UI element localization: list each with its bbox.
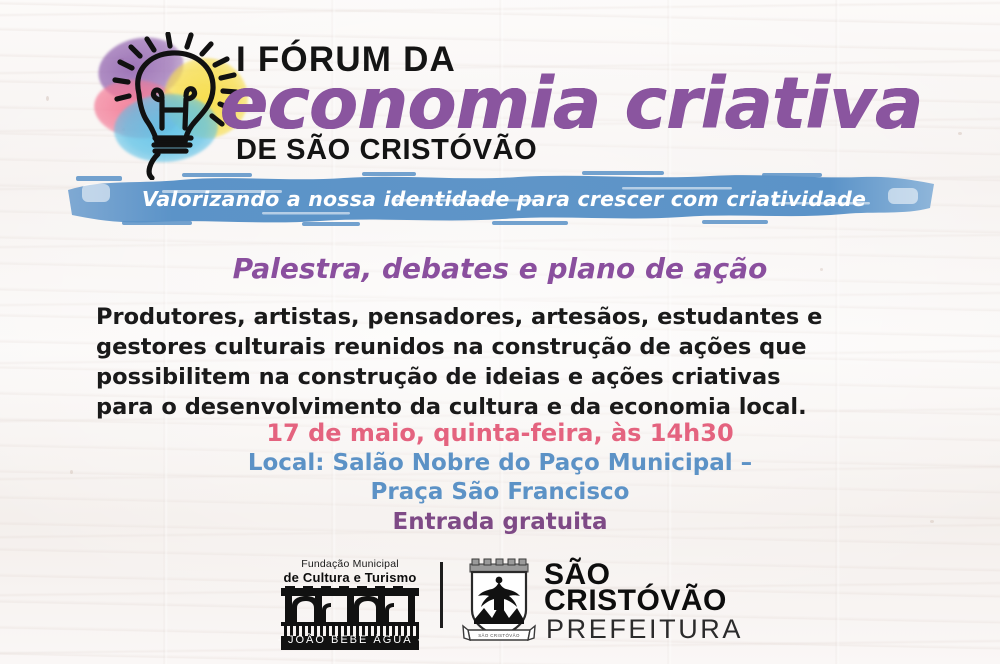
foundation-caption: · JOÃO BEBE ÁGUA · xyxy=(275,634,425,646)
foundation-line-2: de Cultura e Turismo xyxy=(275,570,425,585)
svg-text:SÃO CRISTÓVÃO: SÃO CRISTÓVÃO xyxy=(478,633,520,638)
title-line-city: DE SÃO CRISTÓVÃO xyxy=(236,134,537,167)
title-line-main: economia criativa xyxy=(220,68,923,139)
description-line-1: Produtores, artistas, pensadores, artesã… xyxy=(96,304,822,330)
event-admission: Entrada gratuita xyxy=(0,508,1000,537)
event-details: 17 de maio, quinta-feira, às 14h30 Local… xyxy=(0,418,1000,537)
tagline-text: Valorizando a nossa identidade para cres… xyxy=(62,168,942,230)
description-paragraph: Produtores, artistas, pensadores, artesã… xyxy=(96,303,912,423)
foundation-line-1: Fundação Municipal xyxy=(275,558,425,570)
city-hall-line-3: PREFEITURA xyxy=(546,616,743,643)
subtitle-text: Palestra, debates e plano de ação xyxy=(0,252,1000,285)
description-line-2: gestores culturais reunidos na construçã… xyxy=(96,334,806,360)
event-venue-line1: Local: Salão Nobre do Paço Municipal – xyxy=(0,449,1000,478)
city-hall-logo: SÃO CRISTÓVÃO SÃO CRISTÓVÃO PREFEITURA xyxy=(462,556,752,652)
coat-of-arms-crest-icon: SÃO CRISTÓVÃO xyxy=(462,558,536,646)
event-date: 17 de maio, quinta-feira, às 14h30 xyxy=(0,418,1000,449)
city-hall-line-2: CRISTÓVÃO xyxy=(544,586,727,616)
foundation-logo: Fundação Municipal de Cultura e Turismo xyxy=(275,558,425,650)
event-venue-line2: Praça São Francisco xyxy=(0,478,1000,507)
sponsor-logos: Fundação Municipal de Cultura e Turismo xyxy=(0,552,1000,656)
description-line-3: possibilitem na construção de ideias e a… xyxy=(96,364,781,390)
tagline-banner: Valorizando a nossa identidade para cres… xyxy=(62,168,942,230)
poster-header: I FÓRUM DA economia criativa DE SÃO CRIS… xyxy=(0,16,1000,176)
event-poster: I FÓRUM DA economia criativa DE SÃO CRIS… xyxy=(0,0,1000,664)
logo-divider xyxy=(440,562,443,628)
